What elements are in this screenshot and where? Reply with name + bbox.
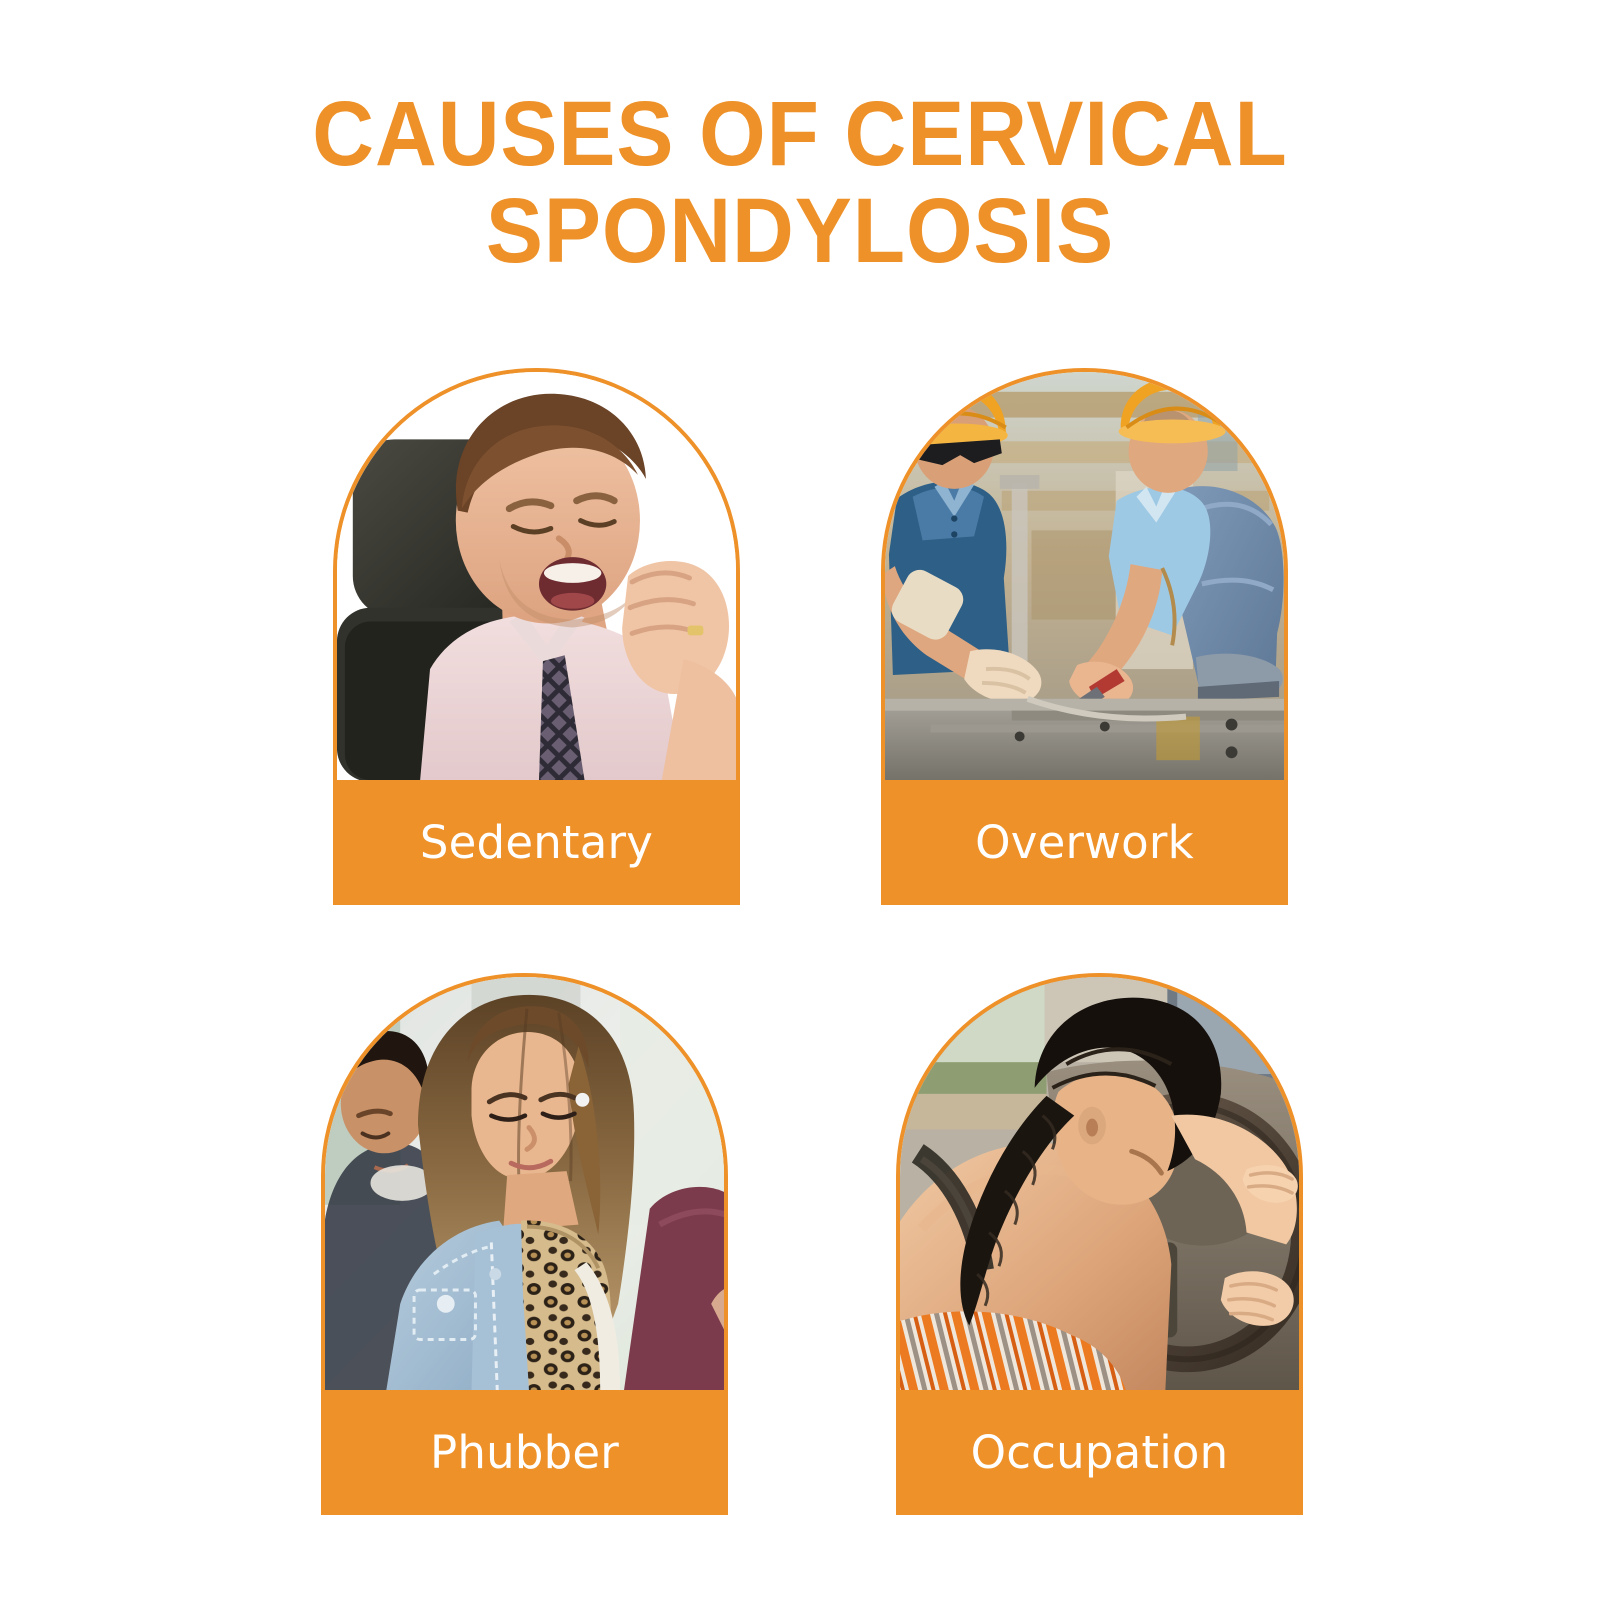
cause-photo-occupation: [896, 973, 1303, 1390]
page-title: CAUSES OF CERVICAL SPONDYLOSIS: [0, 86, 1600, 280]
cause-card-overwork[interactable]: Overwork: [881, 368, 1288, 906]
cause-caption-sedentary: Sedentary: [333, 779, 740, 905]
page-title-line-1: CAUSES OF CERVICAL: [223, 86, 1376, 183]
cause-caption-occupation: Occupation: [896, 1389, 1303, 1515]
cause-photo-sedentary: [333, 368, 740, 780]
cause-label-sedentary: Sedentary: [420, 820, 653, 865]
occupation-illustration: [900, 977, 1299, 1390]
cause-photo-overwork: [881, 368, 1288, 780]
causes-card-grid: Sedentary: [321, 368, 1301, 1513]
cause-label-overwork: Overwork: [975, 820, 1194, 865]
cause-caption-phubber: Phubber: [321, 1389, 728, 1515]
cause-card-phubber[interactable]: Phubber: [321, 973, 728, 1516]
cause-caption-overwork: Overwork: [881, 779, 1288, 905]
sedentary-illustration: [337, 372, 736, 780]
cause-card-occupation[interactable]: Occupation: [896, 973, 1303, 1516]
phubber-illustration: [325, 977, 724, 1390]
cause-label-occupation: Occupation: [971, 1430, 1229, 1475]
cause-card-sedentary[interactable]: Sedentary: [333, 368, 740, 906]
infographic-poster: CAUSES OF CERVICAL SPONDYLOSIS: [0, 0, 1600, 1600]
cause-label-phubber: Phubber: [430, 1430, 619, 1475]
cause-photo-phubber: [321, 973, 728, 1390]
overwork-illustration: [885, 372, 1284, 780]
page-title-line-2: SPONDYLOSIS: [223, 183, 1376, 280]
